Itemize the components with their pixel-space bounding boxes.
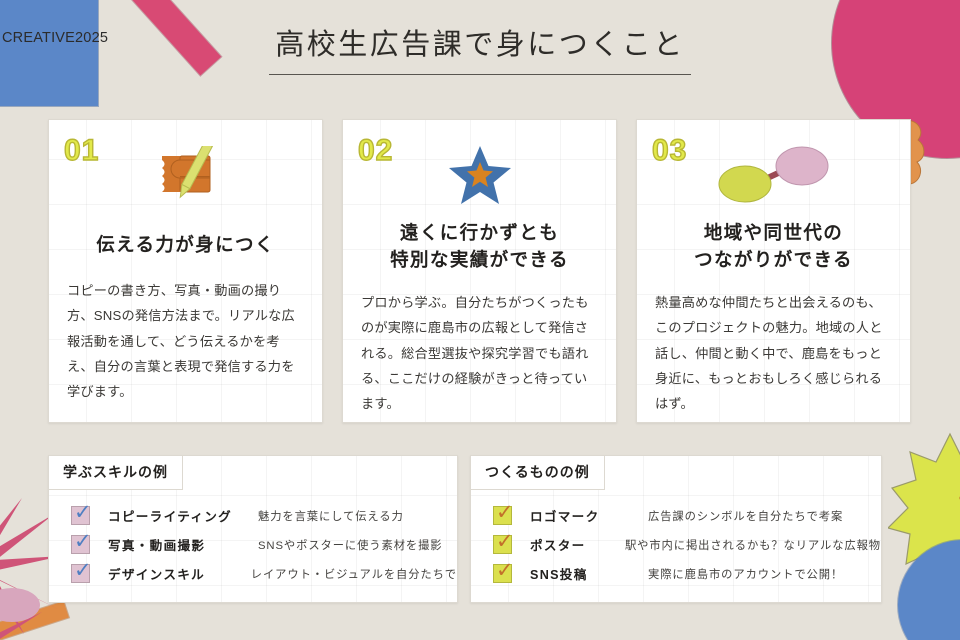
check-mark-icon: ✓ [74,531,96,553]
list-item-label: デザインスキル [108,564,251,583]
slide-canvas: CREATIVE2025 高校生広告課で身につくこと 01 伝え [0,0,960,640]
list-item-label: ポスター [530,535,625,554]
feature-card-02[interactable]: 02 遠くに行かずとも 特別な実績ができる プロから学ぶ。自分たちがつくったもの… [342,119,617,423]
feature-card-group: 01 伝える力が身につく コピーの書き方、写真・動画の撮り方、SNSの発信方法ま… [48,119,912,423]
notebook-pencil-icon [49,138,322,212]
skills-panel[interactable]: 学ぶスキルの例 ✓ コピーライティング 魅力を言葉にして伝える力 ✓ 写真・動画… [48,455,458,603]
card-heading-02-line2: 特別な実績ができる [390,249,569,270]
star-icon [343,138,616,212]
list-item[interactable]: ✓ コピーライティング 魅力を言葉にして伝える力 [49,501,457,530]
list-item[interactable]: ✓ SNS投稿 実際に鹿島市のアカウントで公開！ [471,559,881,588]
list-item-label: SNS投稿 [530,564,648,583]
list-item-description: 実際に鹿島市のアカウントで公開！ [648,566,843,582]
connected-dots-icon [637,138,910,212]
deliverables-row-list: ✓ ロゴマーク 広告課のシンボルを自分たちで考案 ✓ ポスター 駅や市内に掲出さ… [471,501,881,588]
checkbox-icon[interactable]: ✓ [493,535,512,554]
list-item[interactable]: ✓ 写真・動画撮影 SNSやポスターに使う素材を撮影 [49,530,457,559]
page-title: 高校生広告課で身につくこと [269,28,691,75]
check-mark-icon: ✓ [74,502,96,524]
pink-spike-star-decoration-2 [0,600,50,640]
deliverables-panel-tab: つくるものの例 [470,455,605,490]
list-item-label: 写真・動画撮影 [108,535,258,554]
header: 高校生広告課で身につくこと [0,28,960,75]
card-heading-02-line1: 遠くに行かずとも [400,222,559,243]
list-item-description: 駅や市内に掲出されるかも？なリアルな広報物 [625,537,881,553]
list-item[interactable]: ✓ ロゴマーク 広告課のシンボルを自分たちで考案 [471,501,881,530]
check-mark-icon: ✓ [74,560,96,582]
check-mark-icon: ✓ [496,560,518,582]
skills-panel-tab: 学ぶスキルの例 [48,455,183,490]
checkbox-icon[interactable]: ✓ [71,535,90,554]
list-item-label: コピーライティング [108,506,258,525]
feature-card-03[interactable]: 03 地域や同世代の つながりができる 熱量高めな仲間たちと出会えるのも、このプ… [636,119,911,423]
deliverables-panel[interactable]: つくるものの例 ✓ ロゴマーク 広告課のシンボルを自分たちで考案 ✓ ポスター … [470,455,882,603]
card-heading-03-line1: 地域や同世代の [704,222,843,243]
list-item[interactable]: ✓ デザインスキル レイアウト・ビジュアルを自分たちで [49,559,457,588]
blue-circle-decoration [898,540,960,640]
card-heading-01: 伝える力が身につく [61,232,310,259]
orange-bar-decoration [0,601,69,639]
card-body-01: コピーの書き方、写真・動画の撮り方、SNSの発信方法まで。リアルな広報活動を通し… [67,278,306,405]
lime-starburst-decoration [888,432,960,582]
list-item-description: レイアウト・ビジュアルを自分たちで [251,566,457,582]
checkbox-icon[interactable]: ✓ [71,564,90,583]
check-mark-icon: ✓ [496,502,518,524]
check-mark-icon: ✓ [496,531,518,553]
checkbox-icon[interactable]: ✓ [493,506,512,525]
list-item-label: ロゴマーク [530,506,648,525]
list-item-description: SNSやポスターに使う素材を撮影 [258,537,443,553]
feature-card-01[interactable]: 01 伝える力が身につく コピーの書き方、写真・動画の撮り方、SNSの発信方法ま… [48,119,323,423]
skills-row-list: ✓ コピーライティング 魅力を言葉にして伝える力 ✓ 写真・動画撮影 SNSやポ… [49,501,457,588]
pink-ellipse-decoration [0,588,40,622]
card-heading-03-line2: つながりができる [694,249,853,270]
card-body-03: 熱量高めな仲間たちと出会えるのも、このプロジェクトの魅力。地域の人と話し、仲間と… [655,290,894,417]
list-item-description: 魅力を言葉にして伝える力 [258,508,404,524]
card-heading-02: 遠くに行かずとも 特別な実績ができる [355,220,604,274]
card-body-02: プロから学ぶ。自分たちがつくったものが実際に鹿島市の広報として発信される。総合型… [361,290,600,417]
card-heading-03: 地域や同世代の つながりができる [649,220,898,274]
list-item[interactable]: ✓ ポスター 駅や市内に掲出されるかも？なリアルな広報物 [471,530,881,559]
checkbox-icon[interactable]: ✓ [493,564,512,583]
list-item-description: 広告課のシンボルを自分たちで考案 [648,508,843,524]
checkbox-icon[interactable]: ✓ [71,506,90,525]
